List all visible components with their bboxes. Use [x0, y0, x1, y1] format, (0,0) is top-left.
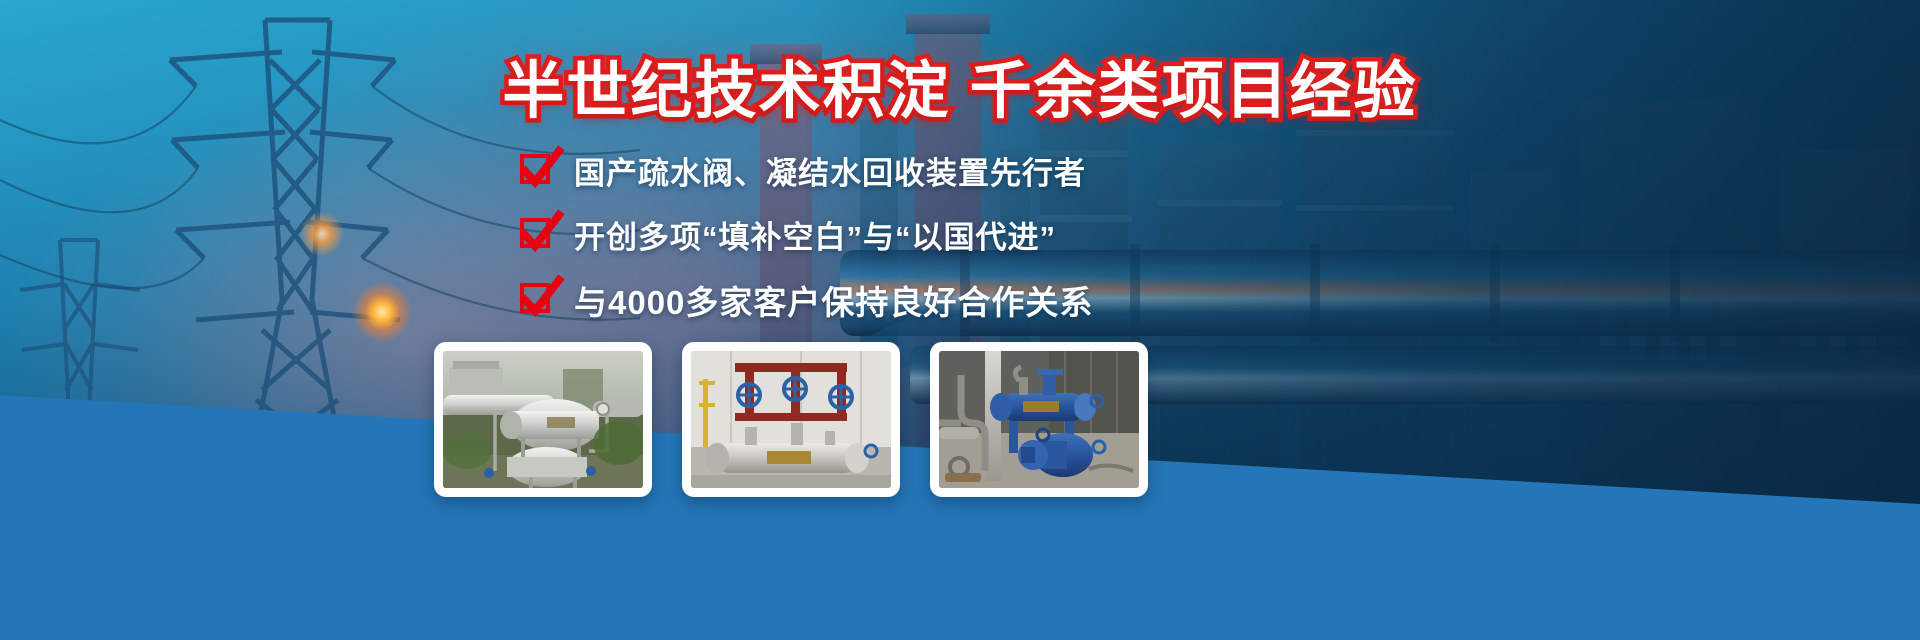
banner-title: 半世纪技术积淀 千余类项目经验 [0, 40, 1920, 130]
lamp-glow-secondary [300, 212, 344, 256]
feature-item: 开创多项“填补空白”与“以国代进” [520, 212, 1093, 257]
feature-list: 国产疏水阀、凝结水回收装置先行者 开创多项“填补空白”与“以国代进” 与4000… [520, 148, 1093, 324]
product-photo [443, 351, 643, 488]
checkbox-checked-icon [520, 283, 554, 317]
product-photo [691, 351, 891, 488]
checkbox-checked-icon [520, 154, 554, 188]
product-card[interactable] [434, 342, 652, 497]
product-photo [939, 351, 1139, 488]
feature-item-label: 与4000多家客户保持良好合作关系 [574, 276, 1093, 324]
checkbox-checked-icon [520, 218, 554, 252]
promo-banner: 半世纪技术积淀 千余类项目经验 国产疏水阀、凝结水回收装置先行者 开创多项“填补… [0, 0, 1920, 640]
feature-item: 与4000多家客户保持良好合作关系 [520, 276, 1093, 324]
feature-item-label: 国产疏水阀、凝结水回收装置先行者 [574, 148, 1086, 193]
product-photo-cards [434, 342, 1148, 497]
product-card[interactable] [930, 342, 1148, 497]
feature-item: 国产疏水阀、凝结水回收装置先行者 [520, 148, 1093, 193]
lamp-glow [352, 282, 412, 342]
feature-item-label: 开创多项“填补空白”与“以国代进” [574, 212, 1056, 257]
product-card[interactable] [682, 342, 900, 497]
